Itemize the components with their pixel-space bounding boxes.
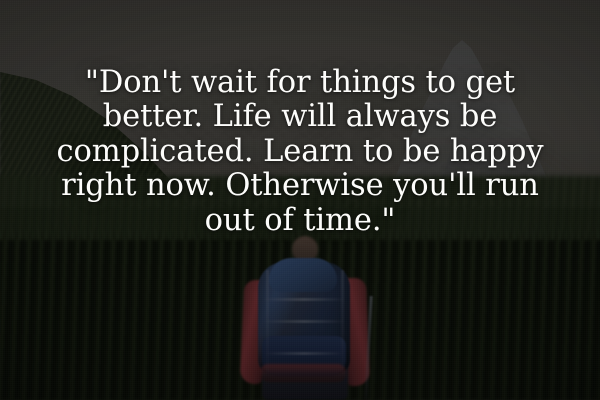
- quote-text: "Don't wait for things to get better. Li…: [0, 66, 600, 238]
- quote-image-card: "Don't wait for things to get better. Li…: [0, 0, 600, 400]
